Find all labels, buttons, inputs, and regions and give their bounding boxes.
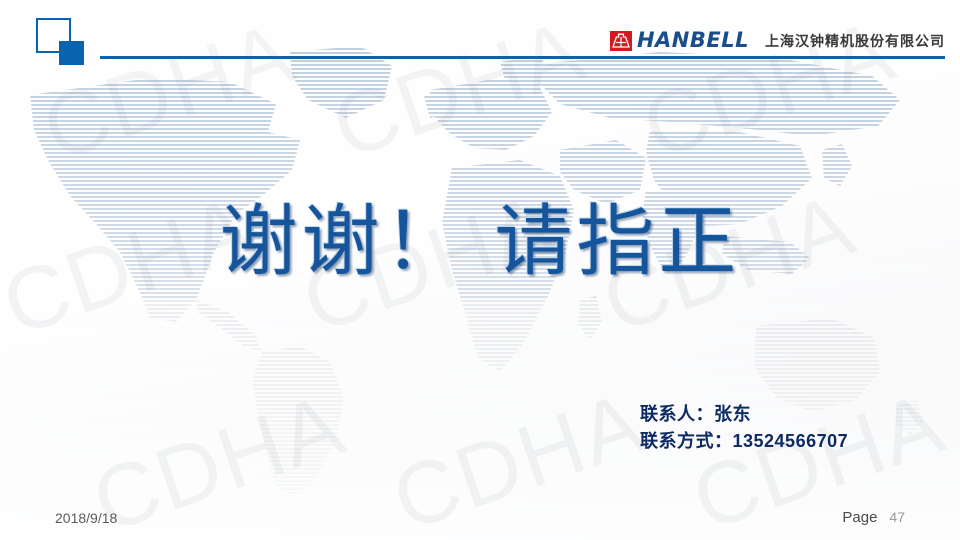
contact-person-label: 联系人：: [640, 404, 714, 425]
logo-filled-square: [59, 41, 84, 65]
two-squares-logo: [36, 18, 84, 62]
contact-person-line: 联系人：张东: [640, 402, 848, 428]
contact-phone-value: 13524566707: [733, 431, 849, 451]
footer-page-number: 47: [889, 509, 905, 525]
brand-lockup: HANBELL 上海汉钟精机股份有限公司: [610, 30, 945, 51]
company-name-cn: 上海汉钟精机股份有限公司: [765, 31, 945, 51]
cdha-watermark: CDHA: [320, 0, 597, 179]
footer-page-indicator: Page47: [842, 509, 905, 526]
contact-phone-label: 联系方式：: [640, 431, 733, 452]
cdha-watermark: CDHA: [380, 371, 657, 540]
hanbell-logo: HANBELL: [610, 30, 749, 51]
contact-block: 联系人：张东 联系方式：13524566707: [640, 402, 848, 455]
cdha-watermark: CDHA: [630, 0, 907, 179]
header-divider-line: [100, 56, 945, 59]
contact-person-value: 张东: [714, 404, 751, 425]
presentation-slide: CDHACDHACDHACDHACDHACDHACDHACDHACDHA HAN…: [0, 0, 960, 540]
hanbell-wordmark: HANBELL: [637, 30, 749, 51]
footer-page-label: Page: [842, 509, 877, 526]
contact-phone-line: 联系方式：13524566707: [640, 428, 848, 455]
cdha-watermark: CDHA: [80, 373, 357, 540]
hanbell-arch-icon: [610, 31, 632, 51]
slide-title: 谢谢！ 请指正: [0, 200, 960, 286]
cdha-watermark: CDHA: [680, 371, 957, 540]
footer-date: 2018/9/18: [55, 510, 117, 526]
